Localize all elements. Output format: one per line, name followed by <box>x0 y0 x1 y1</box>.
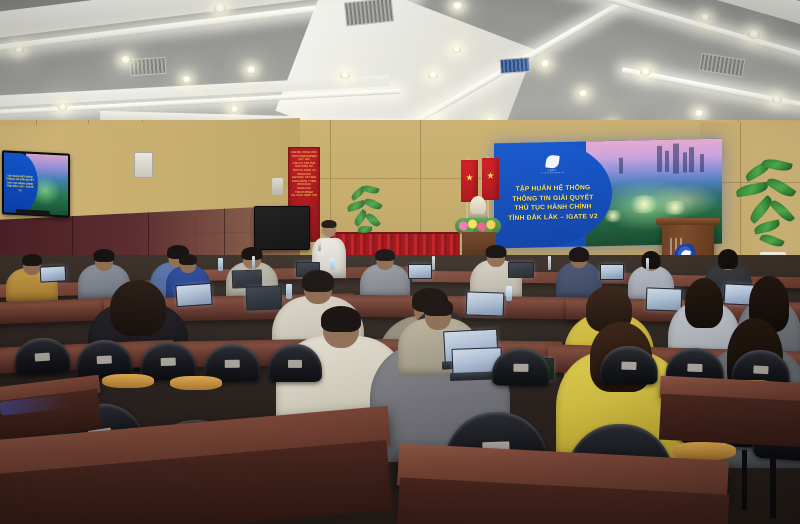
flag-star-icon: ★ <box>465 173 473 182</box>
desk-monitor <box>254 206 310 250</box>
hvac-vent-icon <box>129 57 166 76</box>
vnpt-logo-icon: VNPT TAP DOAN BUU CHINH VIEN THONG VIET … <box>540 155 564 174</box>
water-bottle <box>506 286 512 301</box>
laptop <box>600 264 624 280</box>
ho-chi-minh-bust <box>470 196 486 216</box>
potted-plant-stage <box>346 186 386 242</box>
water-bottle <box>330 258 335 270</box>
wall-speaker-icon <box>134 152 153 178</box>
vietnam-national-flag: ★ <box>482 158 499 200</box>
microphone-icon <box>252 256 255 269</box>
microphone-icon <box>646 258 649 271</box>
left-display-title: TẬP HUẤN HỆ THỐNG THÔNG TIN GIẢI QUYẾT T… <box>6 174 34 192</box>
water-bottle <box>218 258 223 271</box>
left-wall-display: TẬP HUẤN HỆ THỐNG THÔNG TIN GIẢI QUYẾT T… <box>2 150 70 218</box>
wall-speaker-icon <box>272 178 283 195</box>
microphone-icon <box>432 256 435 270</box>
laptop <box>508 262 534 278</box>
laptop <box>408 264 432 279</box>
laptop <box>40 265 67 282</box>
display-title-line: TỈNH ĐẮK LẮK – IGATE V2 <box>7 185 34 192</box>
ceiling-projector-icon <box>500 57 531 74</box>
chair-seat <box>102 374 154 388</box>
slide-title-block: TẬP HUẤN HỆ THỐNG THÔNG TIN GIẢI QUYẾT T… <box>496 183 610 223</box>
microphone-icon <box>318 242 321 251</box>
flag-star-icon: ★ <box>486 171 494 180</box>
chair-seat <box>170 376 222 390</box>
desk-front <box>659 394 800 449</box>
desk <box>412 271 662 284</box>
microphone-icon <box>548 256 551 270</box>
hvac-vent-icon <box>699 53 745 78</box>
podium-top <box>656 218 720 225</box>
banner-line: CẢI CÁCH HÀNH CHÍNH <box>291 194 317 198</box>
conference-room-photo: CÁN BỘ, CÔNG CHỨC THỰC HIỆN NGHIÊM QUY T… <box>0 0 800 524</box>
